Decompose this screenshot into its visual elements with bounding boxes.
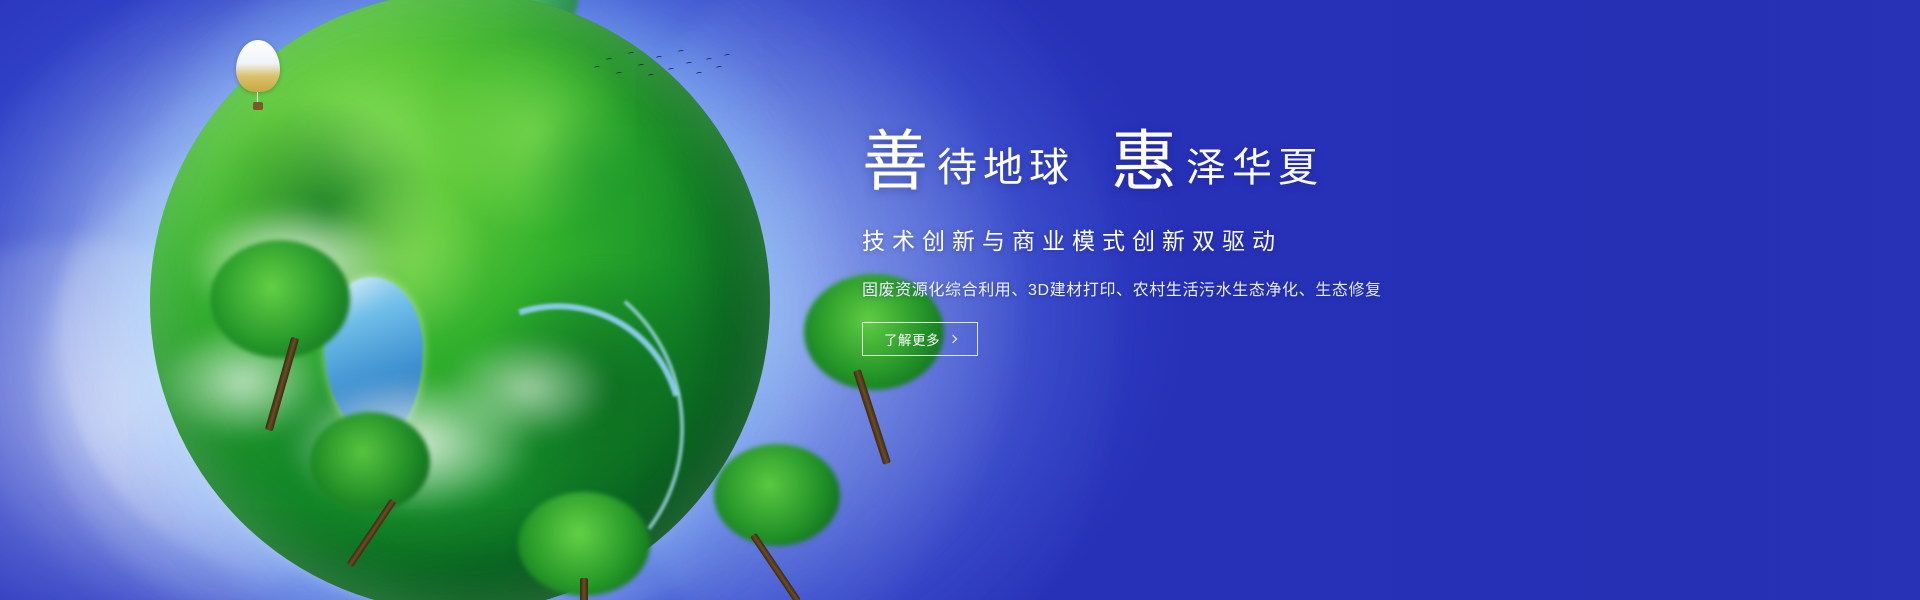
cloud-band <box>0 0 700 600</box>
cloud-band <box>40 120 660 600</box>
cloud-band <box>0 240 340 600</box>
learn-more-label: 了解更多 <box>884 329 940 349</box>
bird-flock-icon <box>590 44 730 92</box>
cloud-streak <box>87 0 853 600</box>
lake <box>324 277 423 438</box>
hot-air-balloon-icon <box>236 40 280 116</box>
hero-description: 固废资源化综合利用、3D建材打印、农村生活污水生态净化、生态修复 <box>862 276 1502 300</box>
tree-icon <box>710 444 850 594</box>
cloud-streak <box>0 0 649 600</box>
tree-icon <box>210 240 360 430</box>
hero-copy: 善 待地球 惠 泽华夏 技术创新与商业模式创新双驱动 固废资源化综合利用、3D建… <box>862 130 1502 356</box>
chevron-right-icon <box>949 334 957 342</box>
headline-secondary-1: 待地球 <box>929 148 1075 196</box>
hero-subtitle: 技术创新与商业模式创新双驱动 <box>862 222 1502 256</box>
green-planet-image <box>150 0 770 600</box>
learn-more-button[interactable]: 了解更多 <box>862 322 978 356</box>
cloud-streak <box>210 113 830 600</box>
headline: 善 待地球 惠 泽华夏 <box>862 130 1502 196</box>
headline-secondary-2: 泽华夏 <box>1178 148 1324 196</box>
river <box>370 250 700 600</box>
tree-icon <box>510 492 660 600</box>
headline-primary-2: 惠 <box>1111 130 1178 196</box>
river <box>374 257 732 600</box>
planet-sphere <box>150 0 770 600</box>
hero-banner: 善 待地球 惠 泽华夏 技术创新与商业模式创新双驱动 固废资源化综合利用、3D建… <box>0 0 1920 600</box>
headline-primary-1: 善 <box>862 130 929 196</box>
tree-icon <box>310 412 440 562</box>
tree-icon <box>418 0 588 136</box>
